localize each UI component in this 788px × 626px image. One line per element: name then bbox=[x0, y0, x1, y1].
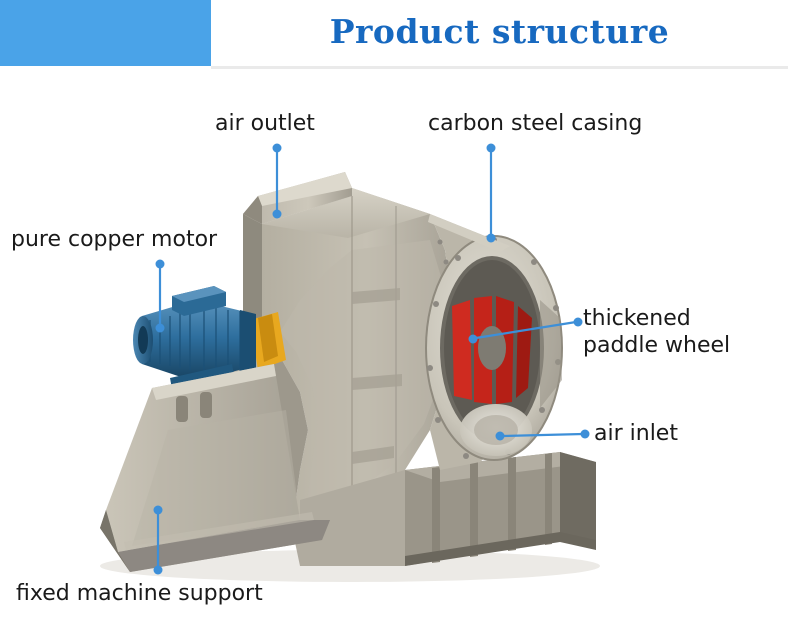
callout-label-thickened-paddle-wheel: thickened paddle wheel bbox=[583, 305, 730, 359]
air-inlet-assembly bbox=[426, 214, 562, 470]
callout-label-fixed-machine-support: fixed machine support bbox=[16, 580, 263, 607]
callout-label-air-outlet: air outlet bbox=[215, 110, 315, 137]
callout-label-air-inlet: air inlet bbox=[594, 420, 678, 447]
thickened-paddle-wheel bbox=[452, 296, 532, 404]
callout-label-carbon-steel-casing: carbon steel casing bbox=[428, 110, 642, 137]
product-structure-page: Product structure bbox=[0, 0, 788, 626]
callout-label-pure-copper-motor: pure copper motor bbox=[11, 226, 217, 253]
leader-carbon-steel-casing bbox=[487, 144, 496, 243]
